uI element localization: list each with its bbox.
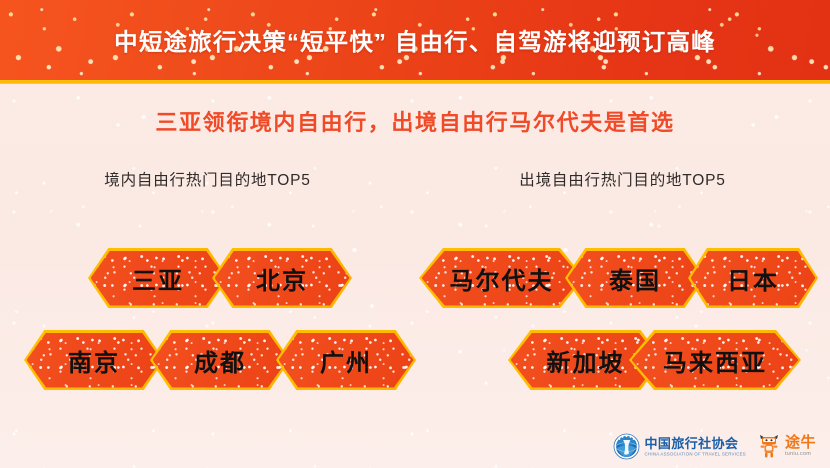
destination-badge[interactable]: 三亚	[88, 248, 228, 308]
destination-label: 日本	[727, 261, 779, 296]
header-title: 中短途旅行决策“短平快” 自由行、自驾游将迎预订高峰	[0, 0, 830, 80]
badge-background: 马来西亚	[632, 333, 799, 388]
tuniu-logo: 途牛 tuniu.com	[758, 434, 816, 459]
destination-badge[interactable]: 南京	[24, 330, 164, 390]
cow-mascot-icon	[758, 434, 780, 459]
destination-label: 成都	[194, 343, 246, 378]
destination-label: 南京	[68, 343, 120, 378]
infographic-poster: 中短途旅行决策“短平快” 自由行、自驾游将迎预订高峰 三亚领衔境内自由行，出境自…	[0, 0, 830, 468]
destination-label: 新加坡	[547, 343, 625, 378]
badge-background: 广州	[279, 333, 414, 388]
badge-background: 马尔代夫	[422, 251, 582, 306]
column-heading-outbound: 出境自由行热门目的地TOP5	[415, 168, 830, 190]
badge-background: 成都	[153, 333, 288, 388]
destination-badge[interactable]: 马尔代夫	[419, 248, 584, 308]
tuniu-text: 途牛 tuniu.com	[785, 435, 816, 457]
badge-background: 北京	[215, 251, 350, 306]
destination-badge[interactable]: 广州	[276, 330, 416, 390]
badge-background: 南京	[27, 333, 162, 388]
destination-badge[interactable]: 日本	[688, 248, 818, 308]
destination-badge[interactable]: 成都	[150, 330, 290, 390]
cats-text: 中国旅行社协会 CHINA ASSOCIATION OF TRAVEL SERV…	[645, 437, 746, 456]
globe-icon	[613, 433, 640, 460]
destination-label: 三亚	[132, 261, 184, 296]
cats-name-cn: 中国旅行社协会	[645, 437, 746, 451]
destination-label: 泰国	[609, 261, 661, 296]
destination-badge[interactable]: 马来西亚	[629, 330, 801, 390]
destination-badge[interactable]: 北京	[212, 248, 352, 308]
cats-logo: 中国旅行社协会 CHINA ASSOCIATION OF TRAVEL SERV…	[613, 433, 746, 460]
badge-background: 日本	[691, 251, 816, 306]
tuniu-name-en: tuniu.com	[785, 452, 816, 458]
footer-logos: 中国旅行社协会 CHINA ASSOCIATION OF TRAVEL SERV…	[613, 433, 816, 460]
tuniu-name-cn: 途牛	[785, 435, 816, 451]
destination-badge[interactable]: 泰国	[565, 248, 705, 308]
destination-label: 广州	[320, 343, 372, 378]
badge-background: 三亚	[91, 251, 226, 306]
destination-label: 马尔代夫	[450, 261, 554, 296]
cats-name-en: CHINA ASSOCIATION OF TRAVEL SERVICES	[645, 452, 746, 457]
destination-label: 马来西亚	[663, 343, 767, 378]
destination-label: 北京	[256, 261, 308, 296]
column-heading-domestic: 境内自由行热门目的地TOP5	[0, 168, 415, 190]
badge-background: 泰国	[568, 251, 703, 306]
subtitle-text: 三亚领衔境内自由行，出境自由行马尔代夫是首选	[0, 105, 830, 137]
header-gold-rule	[0, 80, 830, 84]
